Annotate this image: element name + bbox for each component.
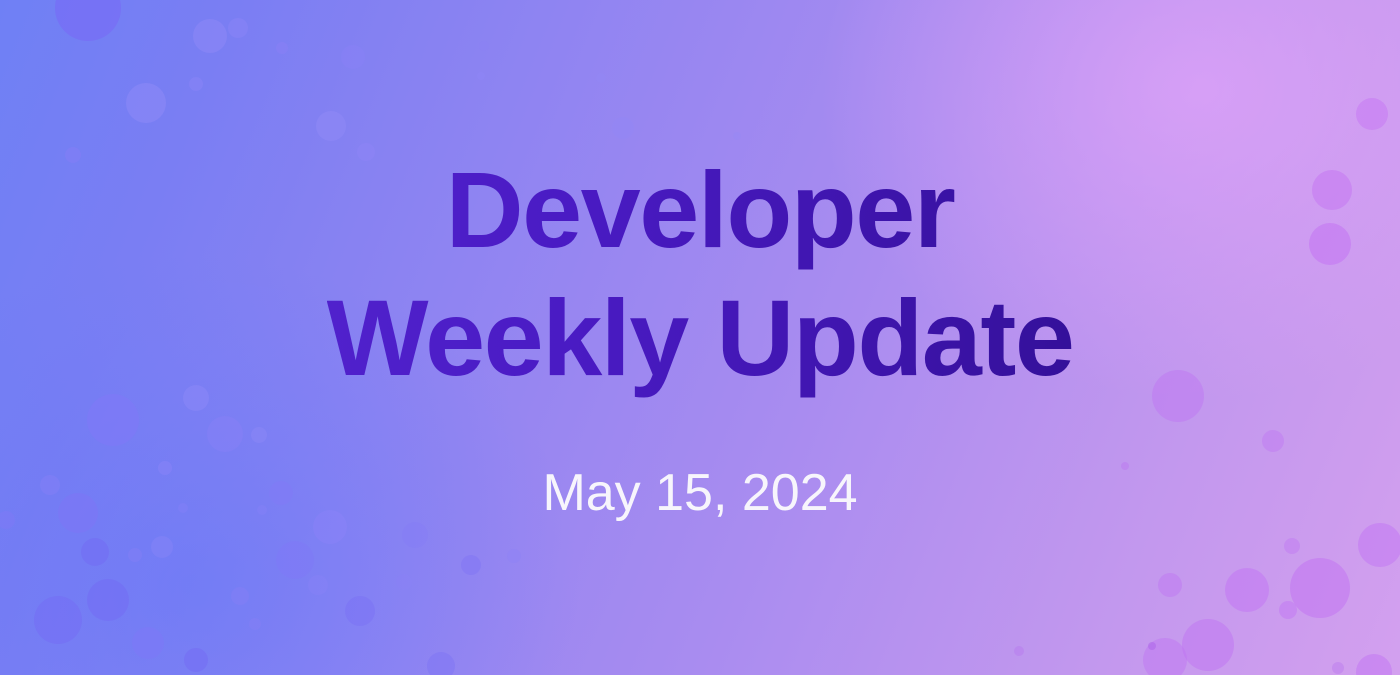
- title-line-one: Developer: [327, 146, 1074, 273]
- banner-title: Developer Weekly Update: [327, 146, 1074, 401]
- developer-weekly-update-banner: Developer Weekly Update May 15, 2024: [0, 0, 1400, 675]
- banner-date: May 15, 2024: [542, 463, 857, 523]
- title-line-two: Weekly Update: [327, 274, 1074, 401]
- banner-content: Developer Weekly Update May 15, 2024: [0, 0, 1400, 675]
